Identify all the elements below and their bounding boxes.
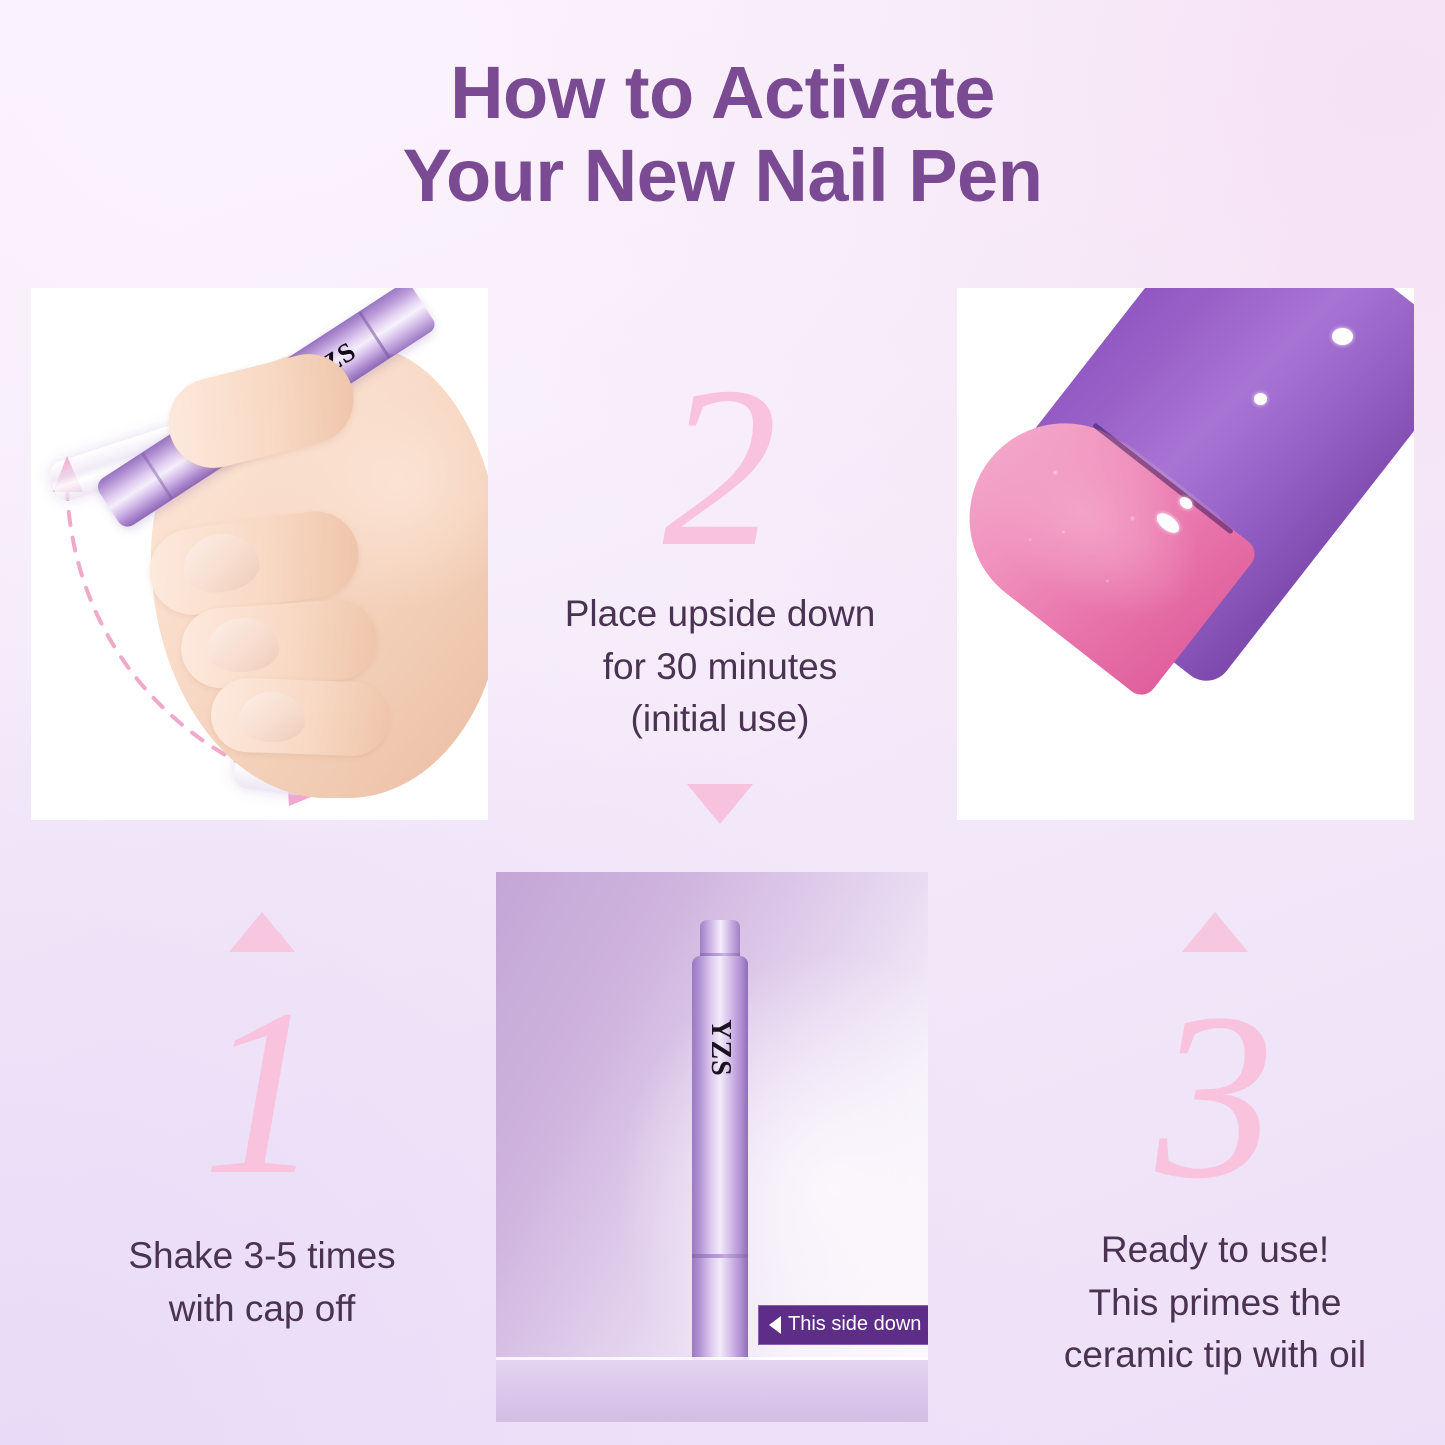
page-title-line-1: How to Activate xyxy=(0,52,1445,135)
page-title-line-2: Your New Nail Pen xyxy=(0,135,1445,218)
step-3-text: Ready to use! This primes the ceramic ti… xyxy=(1010,1224,1420,1382)
ceramic-tip-scene xyxy=(957,288,1414,820)
standing-pen: YZS xyxy=(692,920,748,1374)
step-3-numeral: 3 xyxy=(1010,978,1420,1216)
highlight-glint-2 xyxy=(1254,393,1267,405)
arrow-up-icon-step-1 xyxy=(229,912,295,952)
step-1-text-line-2: with cap off xyxy=(62,1283,462,1336)
floor-surface xyxy=(496,1360,928,1422)
step-2-text-line-2: for 30 minutes xyxy=(510,641,930,694)
page-title: How to Activate Your New Nail Pen xyxy=(0,52,1445,218)
standing-pen-cap xyxy=(700,920,740,956)
step-3-text-line-3: ceramic tip with oil xyxy=(1010,1329,1420,1382)
step-2-text-line-3: (initial use) xyxy=(510,693,930,746)
hand-scene: YZS xyxy=(31,288,488,820)
step-2-text-line-1: Place upside down xyxy=(510,588,930,641)
photo-hand-shaking-pen: YZS xyxy=(31,288,488,820)
step-1-text-line-1: Shake 3-5 times xyxy=(62,1230,462,1283)
step-3-text-line-2: This primes the xyxy=(1010,1277,1420,1330)
standing-pen-body-upper xyxy=(692,956,748,1256)
step-1-text: Shake 3-5 times with cap off xyxy=(62,1230,462,1335)
left-caret-icon xyxy=(769,1316,781,1334)
step-3-text-line-1: Ready to use! xyxy=(1010,1224,1420,1277)
this-side-down-label: This side down xyxy=(788,1313,921,1336)
photo-ceramic-tip-closeup xyxy=(957,288,1414,820)
photo-pen-standing-upright: YZS This side down xyxy=(496,872,928,1422)
this-side-down-badge: This side down xyxy=(758,1305,928,1345)
step-2-block: 2 Place upside down for 30 minutes (init… xyxy=(510,352,930,824)
step-1-numeral: 1 xyxy=(62,974,462,1212)
step-1-block: 1 Shake 3-5 times with cap off xyxy=(62,912,462,1335)
arrow-down-icon-step-2 xyxy=(687,784,753,824)
step-2-numeral: 2 xyxy=(510,352,930,582)
arrow-up-icon-step-3 xyxy=(1182,912,1248,952)
brand-logo-standing-pen: YZS xyxy=(704,1019,736,1076)
highlight-glint-1 xyxy=(1332,328,1353,345)
step-3-block: 3 Ready to use! This primes the ceramic … xyxy=(1010,912,1420,1382)
step-2-text: Place upside down for 30 minutes (initia… xyxy=(510,588,930,746)
infographic-root: How to Activate Your New Nail Pen YZS xyxy=(0,0,1445,1445)
